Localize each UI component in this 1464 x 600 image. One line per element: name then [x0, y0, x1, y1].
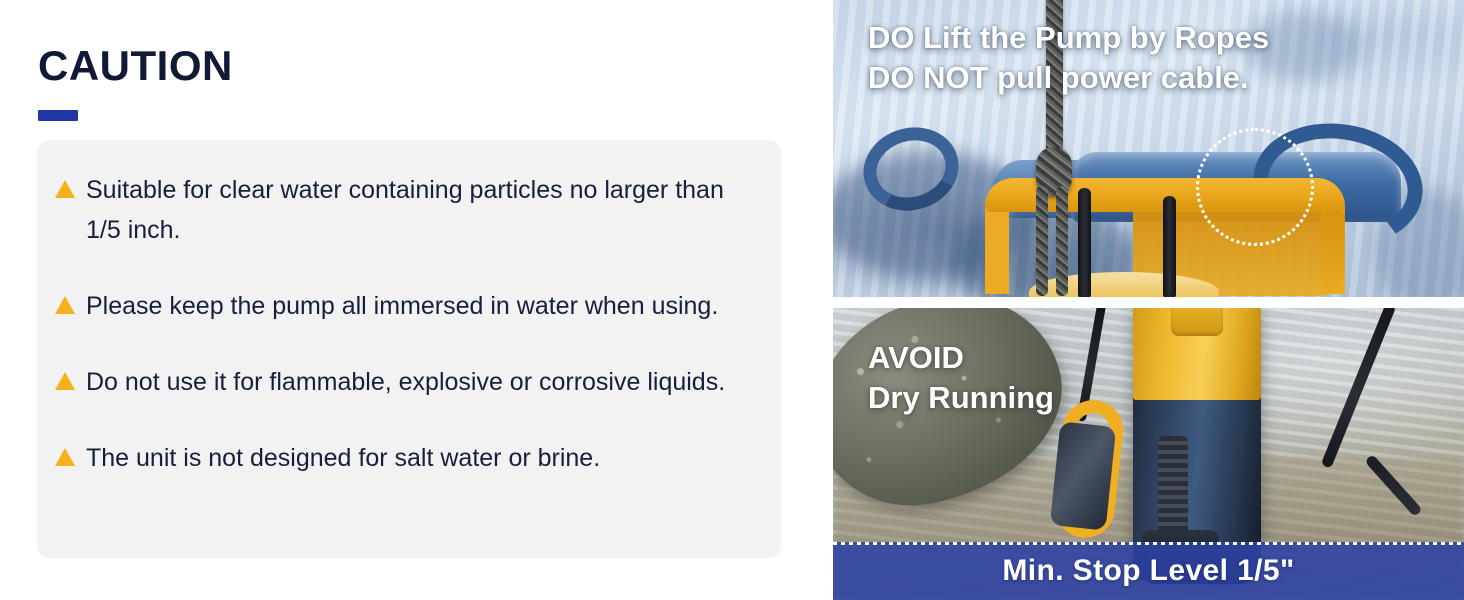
overlay-line-do-not-pull: DO NOT pull power cable. [868, 58, 1269, 98]
photo-overlay-caption-top: DO Lift the Pump by Ropes DO NOT pull po… [868, 18, 1269, 98]
photo-column: DO Lift the Pump by Ropes DO NOT pull po… [833, 0, 1464, 600]
photo-overlay-caption-bottom: AVOID Dry Running [868, 338, 1054, 418]
list-item: The unit is not designed for salt water … [55, 438, 753, 478]
overlay-line-avoid: AVOID [868, 338, 1054, 378]
min-stop-level-label: Min. Stop Level 1/5" [1002, 554, 1294, 588]
title-accent-bar [38, 110, 78, 121]
warning-triangle-icon [55, 438, 75, 478]
power-cable [1078, 188, 1091, 297]
page-title: CAUTION [38, 41, 233, 91]
overlay-line-dry-running: Dry Running [868, 378, 1054, 418]
pump-lifted-by-rope-photo: DO Lift the Pump by Ropes DO NOT pull po… [833, 0, 1464, 297]
pump-cap-notch [1171, 308, 1223, 336]
list-item: Do not use it for flammable, explosive o… [55, 362, 753, 402]
rope-tail [1036, 186, 1048, 296]
caution-section: CAUTION Suitable for clear water contain… [0, 0, 820, 600]
warning-triangle-icon [55, 286, 75, 326]
pump-outlet-hose-barb [1158, 436, 1188, 540]
list-item: Suitable for clear water containing part… [55, 170, 753, 250]
float-switch [1050, 421, 1117, 530]
list-item-label: Suitable for clear water containing part… [86, 170, 746, 250]
caution-list: Suitable for clear water containing part… [55, 170, 753, 478]
pump-in-shallow-water-photo: AVOID Dry Running Min. Stop Level 1/5" [833, 308, 1464, 600]
power-cable [1163, 196, 1176, 297]
dotted-circle-annotation [1196, 128, 1314, 246]
list-item-label: Do not use it for flammable, explosive o… [86, 362, 725, 402]
list-item: Please keep the pump all immersed in wat… [55, 286, 753, 326]
caution-infographic: CAUTION Suitable for clear water contain… [0, 0, 1464, 600]
min-stop-level-banner: Min. Stop Level 1/5" [833, 542, 1464, 600]
warning-triangle-icon [55, 170, 75, 210]
water-level-dashed-line [833, 542, 1464, 545]
overlay-line-do-lift: DO Lift the Pump by Ropes [868, 18, 1269, 58]
warning-triangle-icon [55, 362, 75, 402]
rope-tail [1056, 186, 1068, 296]
list-item-label: The unit is not designed for salt water … [86, 438, 600, 478]
list-item-label: Please keep the pump all immersed in wat… [86, 286, 718, 326]
caution-panel: Suitable for clear water containing part… [37, 140, 781, 558]
